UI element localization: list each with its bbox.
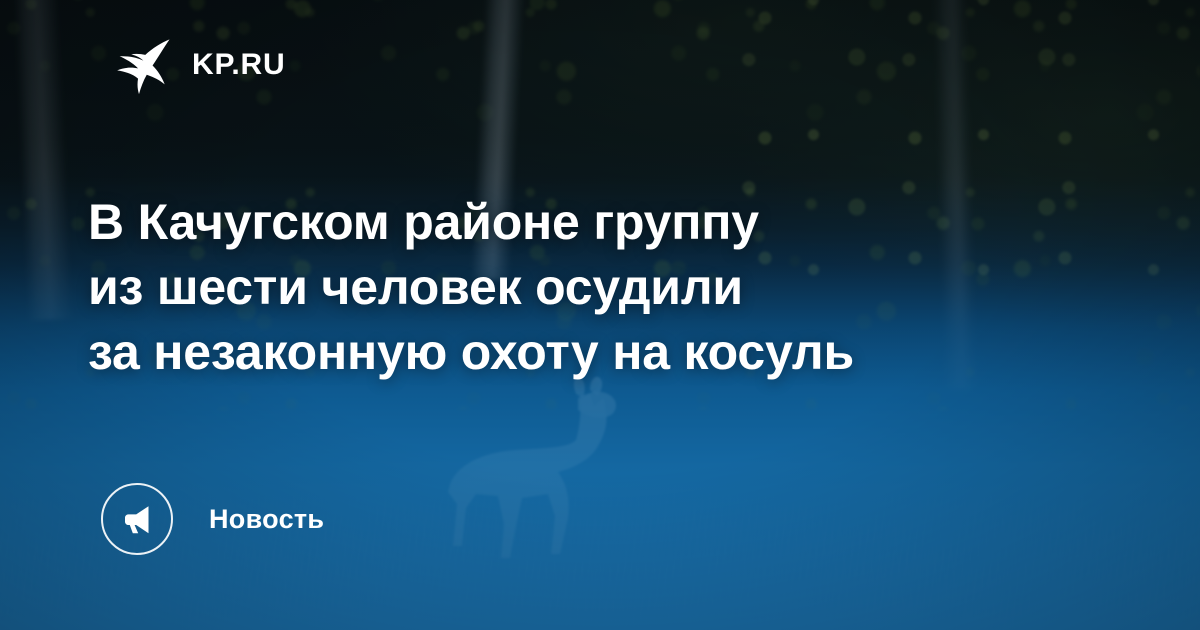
brand-name: KP.RU	[192, 50, 285, 80]
card-content: KP.RU В Качугском районе группу из шести…	[0, 0, 1200, 630]
headline-line: В Качугском районе группу	[88, 190, 1028, 255]
headline-line: за незаконную охоту на косуль	[88, 320, 1028, 385]
megaphone-icon	[101, 483, 173, 555]
headline: В Качугском районе группу из шести челов…	[88, 190, 1028, 385]
headline-line: из шести человек осудили	[88, 255, 1028, 320]
brand-lockup[interactable]: KP.RU	[108, 34, 285, 96]
swallow-bird-icon	[108, 34, 170, 96]
content-type-badge[interactable]: Новость	[101, 483, 324, 555]
news-share-card: KP.RU В Качугском районе группу из шести…	[0, 0, 1200, 630]
badge-label: Новость	[209, 506, 324, 533]
